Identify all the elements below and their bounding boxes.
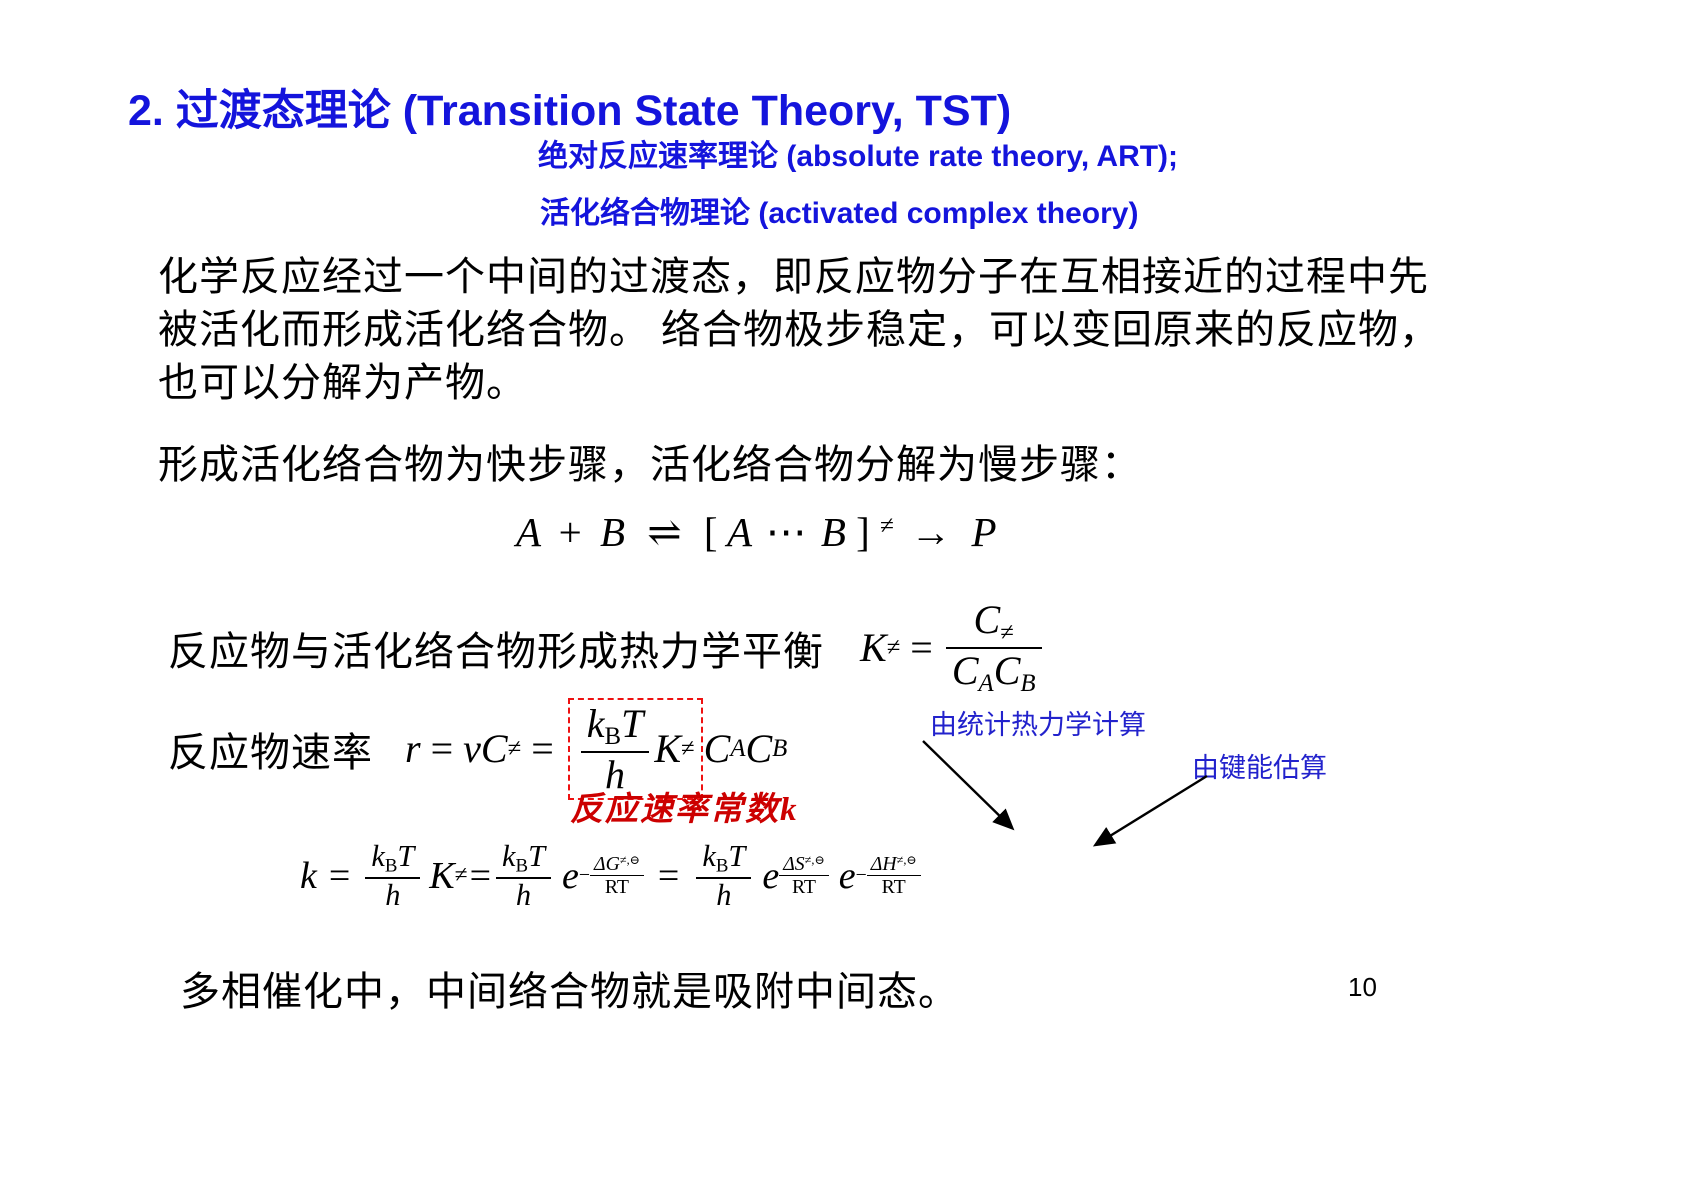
eq-reaction-P: P: [971, 509, 996, 555]
arrow-to-entropy-term: [915, 735, 1035, 855]
final-den-h-1: h: [365, 877, 420, 912]
subtitle-absolute-rate-theory: 绝对反应速率理论 (absolute rate theory, ART);: [538, 131, 1178, 175]
final-exp-minus-2: −: [856, 864, 867, 887]
eq-rate-CB-sub: B: [772, 735, 787, 763]
eq-reaction-bracket-open: [: [704, 509, 718, 555]
final-exponent-dG-over-RT: ΔG≠,⊖ RT: [590, 853, 644, 898]
final-fraction-kbt-over-h-3: kBT h: [696, 840, 751, 911]
paragraph-fast-slow-steps: 形成活化络合物为快步骤，活化络合物分解为慢步骤：: [158, 438, 1448, 491]
final-num-kbt-2: kBT: [496, 840, 551, 877]
final-fraction-kbt-over-h-2: kBT h: [496, 840, 551, 911]
final-dS-sup: ≠,⊖: [805, 853, 825, 867]
final-e-1: e: [562, 854, 579, 898]
final-exp-num-dS: ΔS≠,⊖: [779, 853, 829, 875]
numerator-C: C: [974, 597, 1001, 642]
final-fraction-kbt-over-h-1: kBT h: [365, 840, 420, 911]
final-e-3: e: [839, 854, 856, 898]
eq-reaction-A: A: [516, 509, 540, 555]
page-title: 2. 过渡态理论 (Transition State Theory, TST): [128, 76, 1011, 138]
denominator-C1-sub: A: [979, 670, 994, 697]
final-exponent-dH-over-RT: ΔH≠,⊖ RT: [867, 853, 921, 898]
final-dH-sup: ≠,⊖: [897, 853, 917, 867]
eq-reaction-arrow: →: [910, 509, 951, 555]
eq-rate-equals2: =: [531, 725, 554, 772]
final-exp-den-RT-1: RT: [590, 875, 644, 898]
final-k: k: [300, 854, 317, 898]
kb-k: k: [587, 701, 605, 746]
final-kb-sub-1: B: [385, 855, 398, 876]
final-exp-num-dG: ΔG≠,⊖: [590, 853, 644, 875]
equation-reaction-scheme: A + B ⇌ [ A ⋯ B ] ≠ → P: [516, 508, 997, 556]
fraction-denominator: CACB: [946, 647, 1042, 698]
arrow-to-enthalpy-term: [1085, 772, 1215, 862]
eq-reaction-A2: A: [727, 509, 751, 555]
final-T-2: T: [528, 839, 545, 873]
annotation-rate-constant: 反应速率常数k: [570, 782, 799, 830]
final-T-1: T: [397, 839, 414, 873]
eq-reaction-B: B: [600, 509, 625, 555]
fraction-numerator: C≠: [946, 598, 1042, 647]
equation-final-rate-constant: k = kBT h K≠ = kBT h e − ΔG≠,⊖ RT = kBT …: [300, 840, 921, 911]
final-K-sup: ≠: [455, 862, 468, 889]
final-den-h-3: h: [696, 877, 751, 912]
final-equals1: =: [329, 854, 350, 898]
equation-equilibrium-constant: K≠ = C≠ CACB: [860, 598, 1045, 697]
final-T-3: T: [728, 839, 745, 873]
final-dH: ΔH: [871, 853, 897, 875]
final-equals2: =: [470, 854, 491, 898]
eq-reaction-bracket-close: ]: [856, 509, 870, 555]
eq-rate-CB: C: [745, 725, 772, 772]
denominator-C2-sub: B: [1020, 670, 1035, 697]
denominator-C2: C: [994, 648, 1021, 693]
page-number: 10: [1348, 972, 1377, 1003]
eq-rate-C-sub: ≠: [508, 735, 522, 763]
final-kb-sub-3: B: [716, 855, 729, 876]
eq-rate-CA-sub: A: [730, 735, 745, 763]
final-exponent-dS-over-RT: ΔS≠,⊖ RT: [779, 853, 829, 898]
paragraph-heterogeneous-catalysis: 多相催化中，中间络合物就是吸附中间态。: [180, 965, 1470, 1018]
fraction-C-over-CaCb: C≠ CACB: [946, 598, 1042, 697]
eq-rate-CA: C: [704, 725, 731, 772]
final-exp-num-dH: ΔH≠,⊖: [867, 853, 921, 875]
fraction-numerator-kbt: kBT: [581, 702, 650, 751]
eq-reaction-dagger: ≠: [880, 511, 894, 539]
final-den-h-2: h: [496, 877, 551, 912]
eq-rate-equals1: =: [431, 725, 454, 772]
row-equilibrium-constant: 反应物与活化络合物形成热力学平衡 K≠ = C≠ CACB: [168, 598, 1045, 697]
final-exp-den-RT-2: RT: [779, 875, 829, 898]
final-kb-sub-2: B: [516, 855, 529, 876]
final-K: K: [429, 854, 454, 898]
final-dS: ΔS: [783, 853, 804, 875]
eq-K-superscript: ≠: [887, 634, 901, 662]
label-rate: 反应物速率: [168, 720, 373, 778]
slide-root: 2. 过渡态理论 (Transition State Theory, TST) …: [0, 0, 1684, 1191]
eq-reaction-plus: +: [559, 509, 582, 555]
paragraph-transition-state-description: 化学反应经过一个中间的过渡态，即反应物分子在互相接近的过程中先被活化而形成活化络…: [158, 250, 1448, 409]
final-kb-3: k: [702, 839, 716, 873]
final-kb-1: k: [371, 839, 385, 873]
final-kb-2: k: [502, 839, 516, 873]
kb-T: T: [621, 701, 643, 746]
eq-K-equals: =: [910, 624, 933, 671]
numerator-C-sub: ≠: [1000, 619, 1014, 646]
label-equilibrium: 反应物与活化络合物形成热力学平衡: [168, 619, 824, 677]
eq-reaction-equilibrium-arrow: ⇌: [647, 509, 681, 555]
final-dG: ΔG: [594, 853, 620, 875]
eq-rate-K-sup: ≠: [681, 735, 695, 763]
eq-reaction-B2: B: [821, 509, 846, 555]
kb-sub: B: [605, 723, 622, 750]
eq-reaction-dots: ⋯: [766, 509, 807, 555]
final-exp-den-RT-3: RT: [867, 875, 921, 898]
eq-rate-r: r: [405, 725, 421, 772]
subtitle-activated-complex-theory: 活化络合物理论 (activated complex theory): [540, 188, 1138, 232]
eq-rate-nu: ν: [463, 725, 481, 772]
final-e-2: e: [762, 854, 779, 898]
final-num-kbt-1: kBT: [365, 840, 420, 877]
final-equals3: =: [658, 854, 679, 898]
denominator-C1: C: [952, 648, 979, 693]
final-num-kbt-3: kBT: [696, 840, 751, 877]
final-exp-minus-1: −: [579, 864, 590, 887]
final-dG-sup: ≠,⊖: [620, 853, 640, 867]
eq-rate-C: C: [481, 725, 508, 772]
eq-rate-K: K: [654, 725, 681, 772]
eq-K-symbol: K: [860, 624, 887, 671]
